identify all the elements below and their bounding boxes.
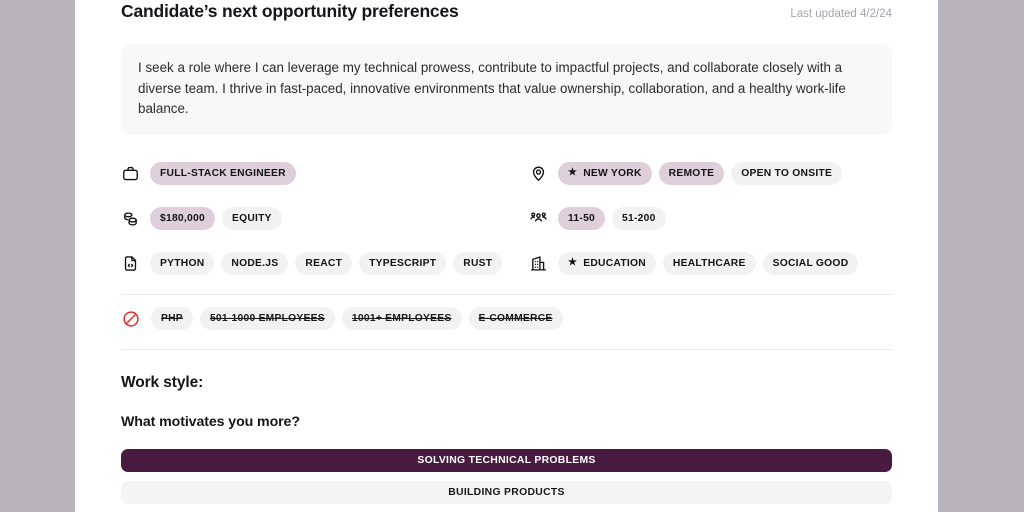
star-icon: ★ xyxy=(568,258,577,268)
code-file-icon xyxy=(121,254,140,273)
role-tags: FULL-STACK ENGINEER xyxy=(150,162,296,185)
preference-row-role: FULL-STACK ENGINEER xyxy=(121,151,529,196)
tag-remote[interactable]: REMOTE xyxy=(659,162,725,185)
work-style-title: Work style: xyxy=(121,374,892,392)
card-header: Candidate’s next opportunity preferences… xyxy=(121,0,892,30)
bio-text: I seek a role where I can leverage my te… xyxy=(138,58,875,120)
briefcase-icon xyxy=(121,164,140,183)
skill-tags: PYTHON NODE.JS REACT TYPESCRIPT RUST xyxy=(150,252,502,275)
tag-label: TYPESCRIPT xyxy=(369,258,436,269)
tag-full-stack-engineer[interactable]: FULL-STACK ENGINEER xyxy=(150,162,296,185)
tag-equity[interactable]: EQUITY xyxy=(222,207,282,230)
tag-label: PHP xyxy=(161,313,183,324)
tag-label: HEALTHCARE xyxy=(673,258,746,269)
tag-education[interactable]: ★ EDUCATION xyxy=(558,252,656,275)
tag-label: E-COMMERCE xyxy=(479,313,553,324)
location-tags: ★ NEW YORK REMOTE OPEN TO ONSITE xyxy=(558,162,842,185)
tag-label: 11-50 xyxy=(568,213,595,224)
preference-row-company-size: 11-50 51-200 xyxy=(529,196,892,241)
star-icon: ★ xyxy=(568,168,577,178)
choice-solving-technical-problems[interactable]: SOLVING TECHNICAL PROBLEMS xyxy=(121,449,892,472)
tag-open-to-onsite[interactable]: OPEN TO ONSITE xyxy=(731,162,842,185)
tag-501-1000-employees[interactable]: 501-1000 EMPLOYEES xyxy=(200,307,335,330)
tag-label: OPEN TO ONSITE xyxy=(741,168,832,179)
tag-rust[interactable]: RUST xyxy=(453,252,502,275)
tag-nodejs[interactable]: NODE.JS xyxy=(221,252,288,275)
tag-react[interactable]: REACT xyxy=(295,252,352,275)
company-size-tags: 11-50 51-200 xyxy=(558,207,666,230)
tag-label: REACT xyxy=(305,258,342,269)
tag-label: NEW YORK xyxy=(583,168,641,179)
tag-label: 1001+ EMPLOYEES xyxy=(352,313,452,324)
preferences-grid: FULL-STACK ENGINEER ★ NEW YORK xyxy=(121,151,892,286)
tag-label: 501-1000 EMPLOYEES xyxy=(210,313,325,324)
tag-label: EQUITY xyxy=(232,213,272,224)
not-interested-tags: PHP 501-1000 EMPLOYEES 1001+ EMPLOYEES E… xyxy=(151,307,563,330)
prohibited-icon xyxy=(121,309,140,328)
tag-new-york[interactable]: ★ NEW YORK xyxy=(558,162,652,185)
preference-row-not-interested: PHP 501-1000 EMPLOYEES 1001+ EMPLOYEES E… xyxy=(121,295,892,343)
compensation-tags: $180,000 EQUITY xyxy=(150,207,282,230)
tag-label: REMOTE xyxy=(669,168,715,179)
bio-box: I seek a role where I can leverage my te… xyxy=(121,44,892,135)
tag-1001-plus-employees[interactable]: 1001+ EMPLOYEES xyxy=(342,307,462,330)
tag-label: NODE.JS xyxy=(231,258,278,269)
tag-e-commerce[interactable]: E-COMMERCE xyxy=(469,307,563,330)
tag-label: SOCIAL GOOD xyxy=(773,258,849,269)
coins-icon xyxy=(121,209,140,228)
tag-label: FULL-STACK ENGINEER xyxy=(160,168,286,179)
tag-label: EDUCATION xyxy=(583,258,646,269)
screen: Candidate’s next opportunity preferences… xyxy=(0,0,1024,512)
tag-typescript[interactable]: TYPESCRIPT xyxy=(359,252,446,275)
tag-social-good[interactable]: SOCIAL GOOD xyxy=(763,252,859,275)
tag-label: $180,000 xyxy=(160,213,205,224)
industry-tags: ★ EDUCATION HEALTHCARE SOCIAL GOOD xyxy=(558,252,858,275)
divider-above-work-style xyxy=(121,349,892,350)
tag-size-51-200[interactable]: 51-200 xyxy=(612,207,666,230)
tag-python[interactable]: PYTHON xyxy=(150,252,214,275)
work-style-question: What motivates you more? xyxy=(121,414,892,430)
tag-salary[interactable]: $180,000 xyxy=(150,207,215,230)
preference-row-compensation: $180,000 EQUITY xyxy=(121,196,529,241)
tag-label: RUST xyxy=(463,258,492,269)
preferences-card: Candidate’s next opportunity preferences… xyxy=(75,0,938,512)
tag-label: 51-200 xyxy=(622,213,656,224)
work-style-choices: SOLVING TECHNICAL PROBLEMS BUILDING PROD… xyxy=(121,449,892,504)
tag-size-11-50[interactable]: 11-50 xyxy=(558,207,605,230)
preference-row-skills: PYTHON NODE.JS REACT TYPESCRIPT RUST xyxy=(121,241,529,286)
people-icon xyxy=(529,209,548,228)
choice-label: BUILDING PRODUCTS xyxy=(448,487,565,498)
tag-healthcare[interactable]: HEALTHCARE xyxy=(663,252,756,275)
map-pin-icon xyxy=(529,164,548,183)
tag-php[interactable]: PHP xyxy=(151,307,193,330)
choice-label: SOLVING TECHNICAL PROBLEMS xyxy=(417,455,595,466)
choice-building-products[interactable]: BUILDING PRODUCTS xyxy=(121,481,892,504)
preference-row-industries: ★ EDUCATION HEALTHCARE SOCIAL GOOD xyxy=(529,241,892,286)
building-icon xyxy=(529,254,548,273)
page-title: Candidate’s next opportunity preferences xyxy=(121,0,459,22)
last-updated-label: Last updated 4/2/24 xyxy=(790,8,892,20)
preference-row-location: ★ NEW YORK REMOTE OPEN TO ONSITE xyxy=(529,151,892,196)
tag-label: PYTHON xyxy=(160,258,204,269)
